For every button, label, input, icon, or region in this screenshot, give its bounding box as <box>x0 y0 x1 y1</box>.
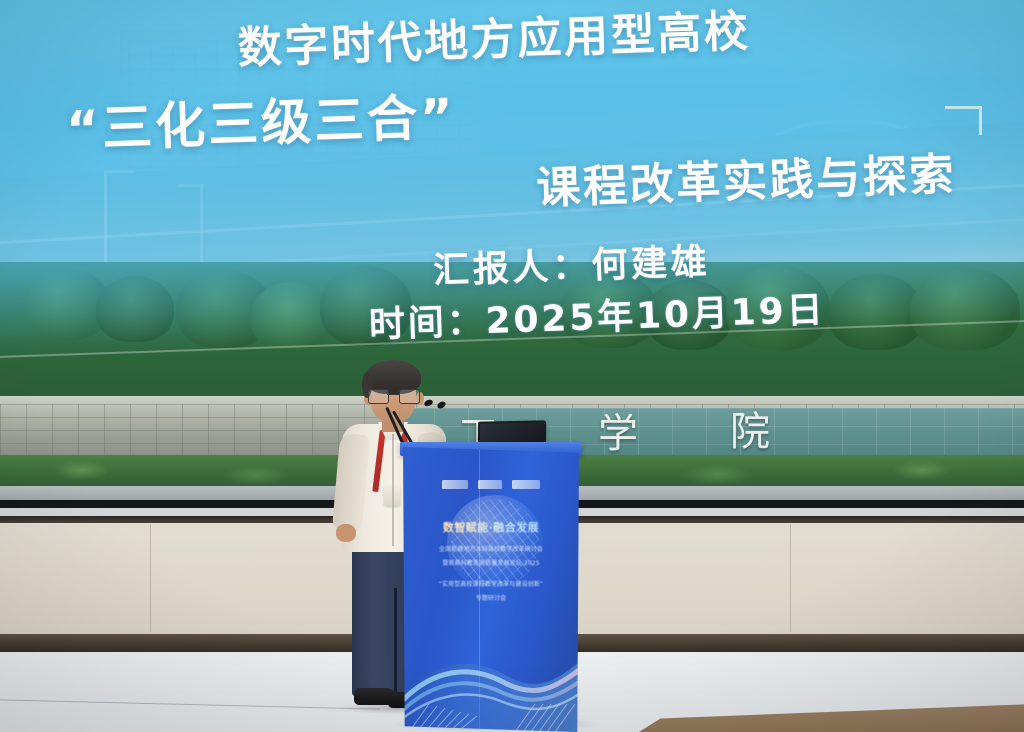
podium: 数智赋能·融合发展 全国新建地方本科高校教学改革研讨会 暨新商科教育高质量发展论… <box>403 447 579 732</box>
glasses-lens-left <box>368 389 389 404</box>
slide-title-line-2: “三化三级三合” <box>65 77 457 162</box>
podium-globe-graphic <box>447 495 543 591</box>
organizer-logo-2-icon <box>478 480 502 489</box>
organizer-logo-3-icon <box>512 480 540 489</box>
podium-logo-row <box>403 480 579 489</box>
wave-svg <box>403 620 579 732</box>
glasses-lens-right <box>399 389 420 404</box>
slide-title-line-3: 课程改革实践与探索 <box>535 138 957 216</box>
speaker-hand-left <box>336 524 356 542</box>
slide-title-line-1: 数字时代地方应用型高校 <box>237 0 752 76</box>
podium-headline: 数智赋能·融合发展 <box>403 519 579 535</box>
organizer-logo-1-icon <box>442 480 468 489</box>
podium-subline-3: “实用型高校课程教学改革与建设创新” <box>411 580 571 590</box>
podium-wave-graphic <box>403 620 579 732</box>
podium-subline-4: 专题研讨会 <box>411 594 571 604</box>
podium-subline-2: 暨新商科教育高质量发展论坛·2025 <box>411 559 571 569</box>
presentation-scene: 工 学 院 数字时代地方应用型高校 “三化三级三合” 课程改革实践与探索 汇报人… <box>0 0 1024 732</box>
podium-subline-1: 全国新建地方本科高校教学改革研讨会 <box>411 545 571 555</box>
speaker-leg-split <box>394 588 397 696</box>
slide-presenter-line: 汇报人：何建雄 <box>432 233 711 294</box>
speaker-shirt-placket <box>392 434 394 546</box>
glasses-icon <box>368 389 418 402</box>
wall-panel-seam <box>150 524 151 632</box>
glasses-bridge <box>387 394 399 395</box>
wall-panel-seam <box>790 524 791 632</box>
